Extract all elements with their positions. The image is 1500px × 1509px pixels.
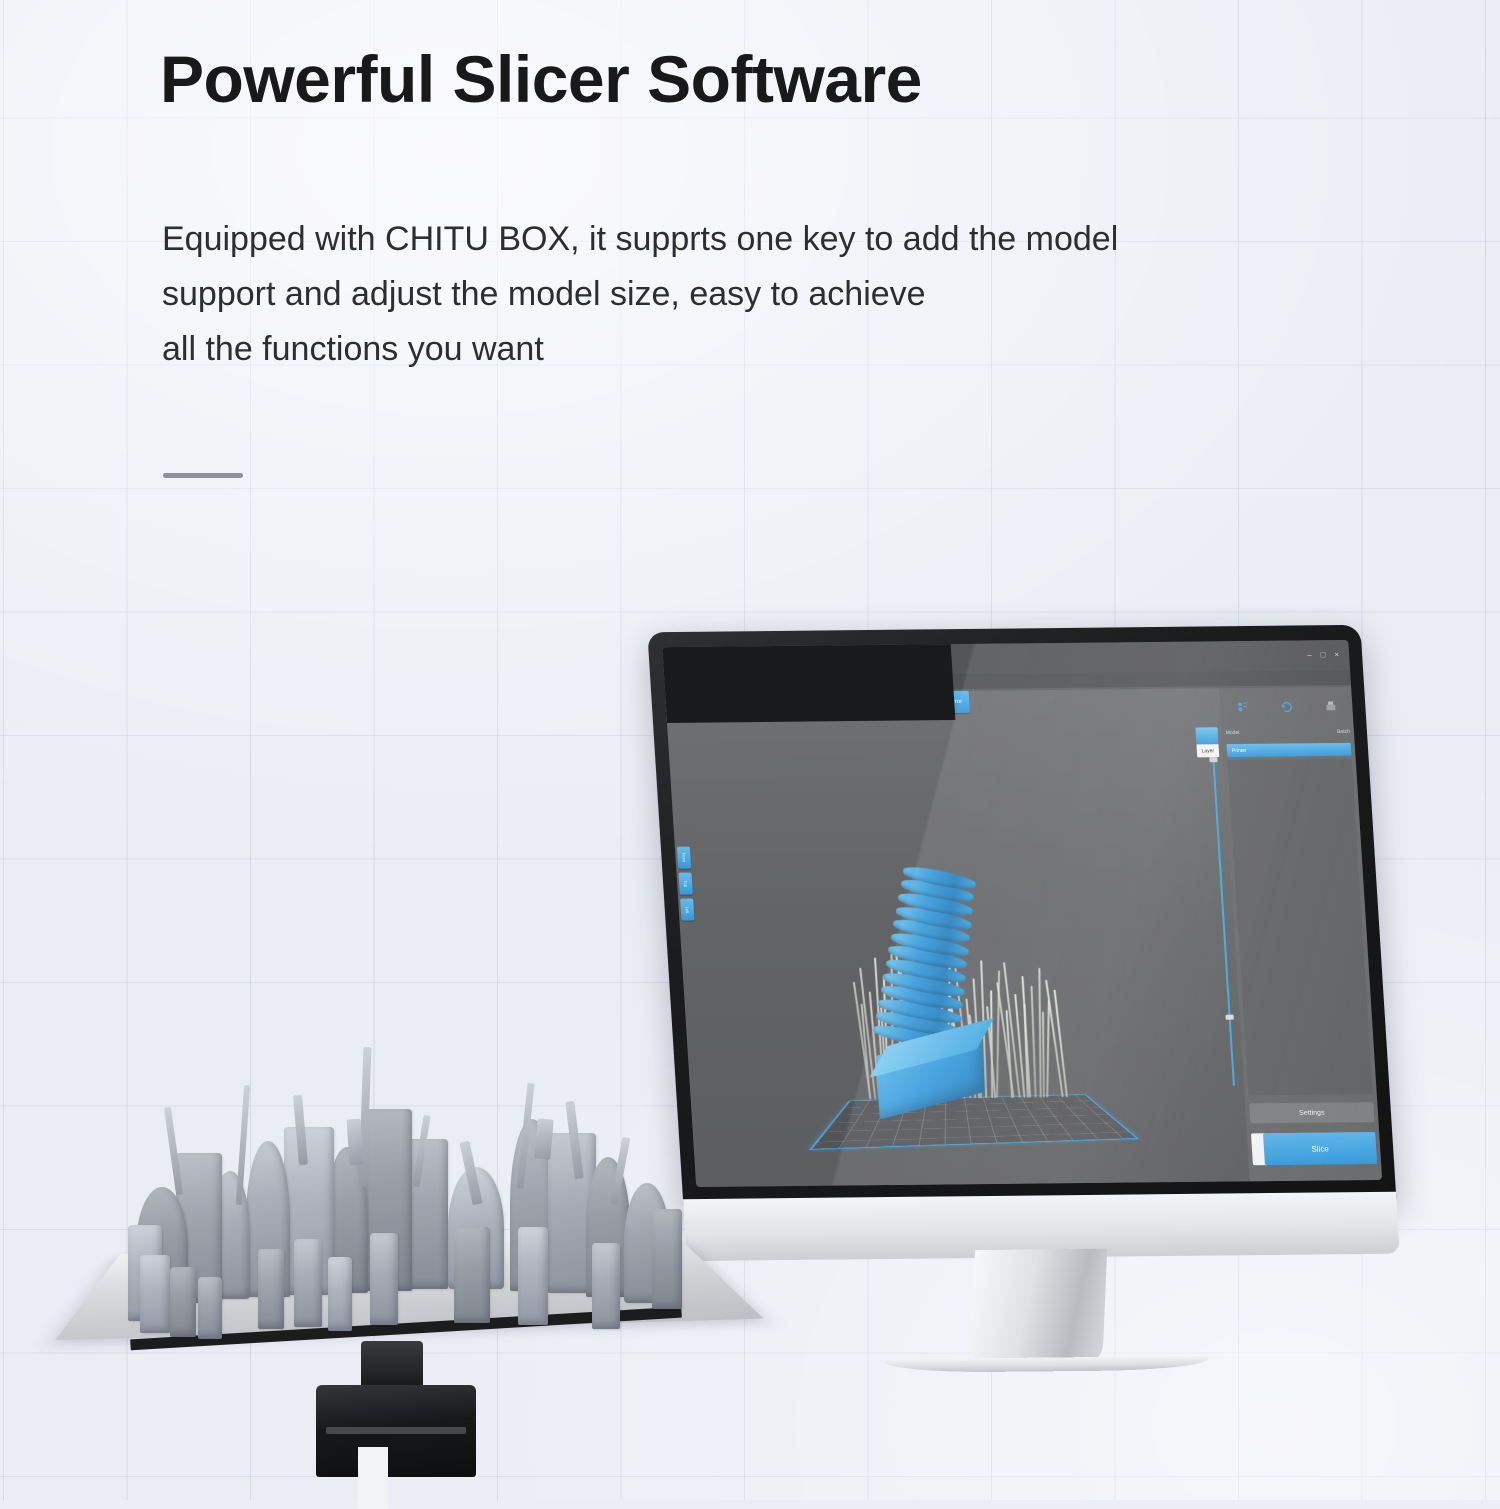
subtitle-line-2: support and adjust the model size, easy … [162, 267, 1382, 322]
miniature-figure [140, 1255, 170, 1333]
page-subtitle: Equipped with CHITU BOX, it supprts one … [162, 212, 1382, 377]
right-panel-row: Model Batch [1225, 725, 1350, 740]
headline-block: Powerful Slicer Software [160, 44, 1360, 115]
settings-button[interactable]: Settings [1249, 1102, 1374, 1123]
subtitle-line-3: all the functions you want [162, 322, 1382, 377]
subtitle-line-1: Equipped with CHITU BOX, it supprts one … [162, 212, 1382, 267]
miniature-figure [652, 1209, 682, 1309]
minimize-icon[interactable]: – [1307, 651, 1312, 659]
layer-preview-thumbnail[interactable]: Layer [1195, 727, 1219, 757]
miniature-figure [592, 1243, 620, 1329]
layer-preview-image [1195, 727, 1218, 744]
support-structure [843, 848, 1053, 850]
close-icon[interactable]: × [1334, 651, 1339, 659]
window-controls: – □ × [1307, 651, 1340, 659]
view-tab-top[interactable]: Top [678, 873, 692, 895]
right-panel-model-label: Model [1226, 730, 1240, 736]
miniature-figures-group [118, 1055, 698, 1355]
support-pillar [1046, 1000, 1050, 1098]
miniature-figure [170, 1267, 196, 1337]
miniature-figure [408, 1139, 448, 1289]
miniature-figure [454, 1227, 490, 1323]
model-with-supports[interactable] [843, 848, 1069, 1100]
rotate-icon[interactable] [1278, 699, 1294, 714]
right-panel-selected-item[interactable]: Printer [1226, 743, 1351, 757]
miniature-figure [258, 1249, 284, 1329]
right-panel-icons [1219, 689, 1353, 724]
miniature-figure [294, 1239, 322, 1327]
layer-slider-top-cap [1209, 757, 1217, 762]
build-plate-grid [809, 1094, 1139, 1150]
miniature-figure [370, 1233, 398, 1325]
viewport-3d[interactable] [665, 688, 1250, 1187]
divider-rule [163, 473, 243, 478]
page-title: Powerful Slicer Software [160, 44, 1360, 115]
view-tab-left[interactable]: Left [680, 898, 694, 920]
miniature-weapon [164, 1107, 183, 1195]
layer-slider-handle[interactable] [1225, 1014, 1233, 1019]
printer-icon[interactable] [1322, 699, 1338, 714]
view-tab-front[interactable]: Front [677, 847, 691, 869]
support-pillar [1030, 986, 1036, 1098]
printed-miniatures [118, 1055, 698, 1500]
maximize-icon[interactable]: □ [1320, 651, 1325, 659]
monitor: ChituBox – □ × File Edit View Help New O… [597, 596, 1442, 1303]
right-panel-list[interactable] [1227, 759, 1372, 1096]
support-icon[interactable] [1234, 699, 1250, 714]
slice-button[interactable]: Slice [1263, 1132, 1377, 1165]
screen-dark-band [662, 644, 955, 723]
right-panel-batch-label: Batch [1337, 729, 1350, 735]
printer-base-lip [326, 1427, 466, 1434]
support-pillar [1038, 968, 1041, 1098]
miniature-figure [328, 1257, 352, 1331]
support-pillar [1041, 1012, 1044, 1098]
layer-preview-label: Layer [1196, 744, 1219, 757]
miniature-figure [518, 1227, 548, 1325]
monitor-screen: ChituBox – □ × File Edit View Help New O… [662, 640, 1382, 1187]
monitor-bezel: ChituBox – □ × File Edit View Help New O… [647, 625, 1396, 1213]
miniature-figure [198, 1277, 222, 1339]
build-plate-mount [361, 1341, 423, 1391]
monitor-stand-neck [970, 1249, 1107, 1370]
